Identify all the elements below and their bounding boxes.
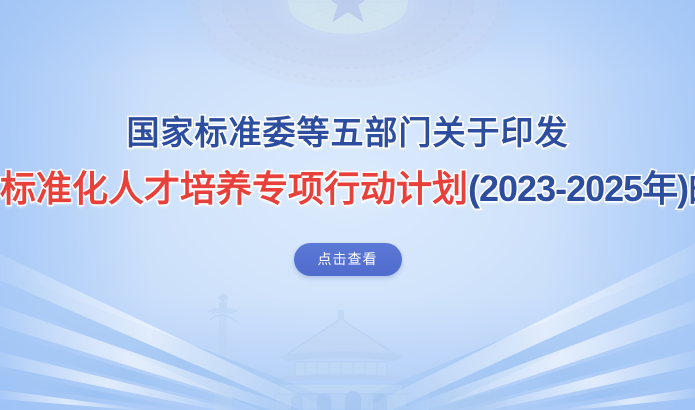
background-vignette (0, 0, 695, 410)
national-emblem-watermark-icon (183, 0, 513, 94)
title-line-2-highlight: 标准化人才培养专项行动计划 (0, 168, 468, 209)
tiananmen-gate-watermark-icon (183, 280, 513, 410)
title-line-2-suffix: (2023-2025年)的通知 (468, 168, 695, 209)
banner-title: 国家标准委等五部门关于印发 标准化人才培养专项行动计划(2023-2025年)的… (0, 112, 695, 211)
view-detail-button[interactable]: 点击查看 (294, 243, 402, 276)
star-icon (323, 0, 372, 22)
notice-banner: 国家标准委等五部门关于印发 标准化人才培养专项行动计划(2023-2025年)的… (0, 0, 695, 410)
title-line-1: 国家标准委等五部门关于印发 (0, 112, 695, 153)
title-line-2: 标准化人才培养专项行动计划(2023-2025年)的通知 (0, 166, 695, 211)
cta-container: 点击查看 (0, 243, 695, 276)
